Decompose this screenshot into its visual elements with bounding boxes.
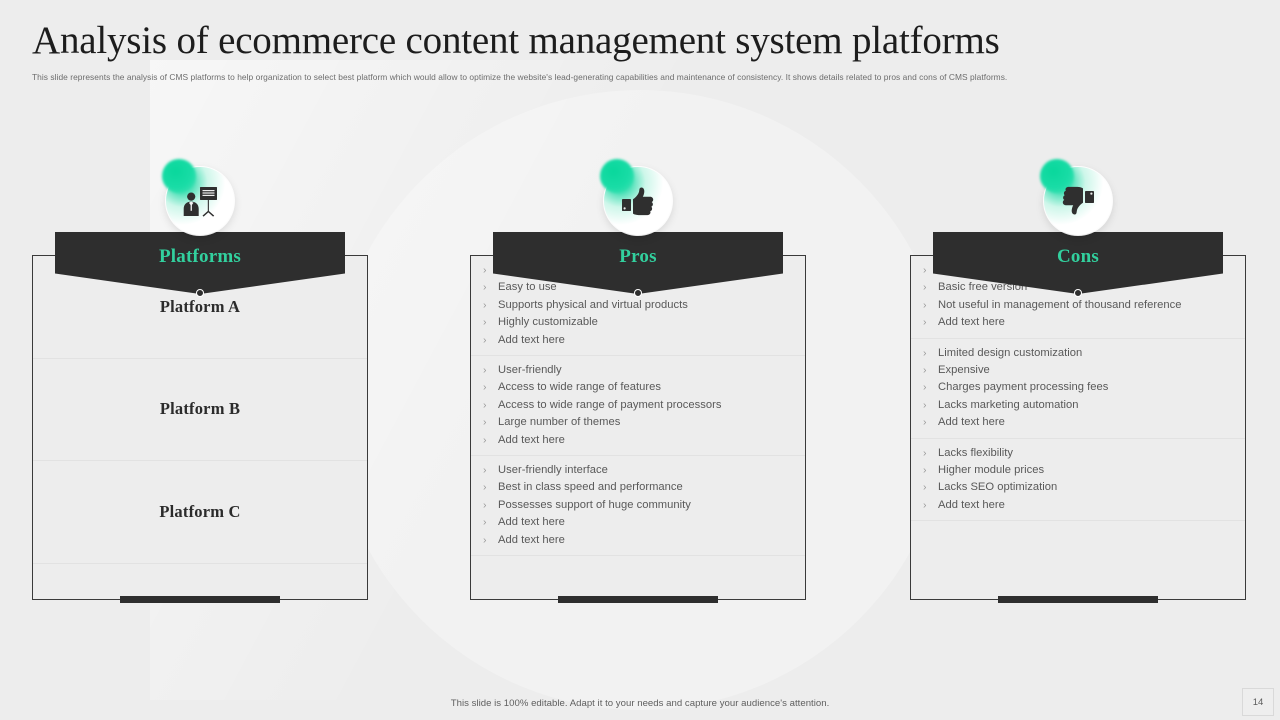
list-item-label: Best in class speed and performance (498, 479, 797, 496)
chevron-right-icon: › (483, 362, 498, 379)
chevron-right-icon: › (923, 314, 938, 331)
list-item-label: Add text here (498, 532, 797, 549)
chevron-right-icon: › (483, 297, 498, 314)
column-platforms: Platforms Platform A Platform B Platform… (32, 255, 368, 600)
chevron-right-icon: › (483, 497, 498, 514)
chevron-right-icon: › (483, 532, 498, 549)
platforms-banner-label: Platforms (159, 246, 241, 268)
column-cons: Cons › Higher dependency on WordPress › … (910, 255, 1246, 600)
page-subtitle: This slide represents the analysis of CM… (32, 70, 1246, 85)
chevron-right-icon: › (483, 414, 498, 431)
chevron-right-icon: › (483, 462, 498, 479)
chevron-right-icon: › (923, 297, 938, 314)
platform-row[interactable]: Platform C (33, 461, 367, 564)
list-item[interactable]: › Add text here (923, 414, 1237, 431)
list-item-label: User-friendly (498, 362, 797, 379)
list-item[interactable]: › Charges payment processing fees (923, 379, 1237, 396)
chevron-right-icon: › (923, 445, 938, 462)
list-item[interactable]: › Add text here (483, 432, 797, 449)
list-item[interactable]: › Add text here (483, 532, 797, 549)
pros-banner-dot (634, 289, 642, 297)
cons-card: Cons › Higher dependency on WordPress › … (910, 255, 1246, 600)
chevron-right-icon: › (923, 397, 938, 414)
thumbs-up-icon (604, 167, 672, 235)
chevron-right-icon: › (483, 332, 498, 349)
list-item-label: Supports physical and virtual products (498, 297, 797, 314)
pros-bullet-group: › User-friendly interface › Best in clas… (471, 456, 805, 556)
platform-name: Platform B (160, 399, 240, 419)
list-item-label: Charges payment processing fees (938, 379, 1237, 396)
chevron-right-icon: › (923, 462, 938, 479)
list-item[interactable]: › Possesses support of huge community (483, 497, 797, 514)
slide-canvas: Analysis of ecommerce content management… (0, 0, 1280, 720)
list-item[interactable]: › Large number of themes (483, 414, 797, 431)
list-item[interactable]: › User-friendly interface (483, 462, 797, 479)
cons-banner-dot (1074, 289, 1082, 297)
column-pros: Pros › Free plugin › Easy to use › Suppo… (470, 255, 806, 600)
list-item-label: Possesses support of huge community (498, 497, 797, 514)
cons-accent-bar (998, 596, 1158, 603)
list-item-label: Lacks marketing automation (938, 397, 1237, 414)
pros-accent-bar (558, 596, 718, 603)
chevron-right-icon: › (923, 379, 938, 396)
page-number-badge: 14 (1242, 688, 1274, 716)
list-item[interactable]: › Lacks flexibility (923, 445, 1237, 462)
chevron-right-icon: › (483, 514, 498, 531)
platform-row[interactable]: Platform B (33, 359, 367, 462)
list-item-label: Access to wide range of features (498, 379, 797, 396)
pros-banner-label: Pros (619, 246, 656, 268)
list-item[interactable]: › User-friendly (483, 362, 797, 379)
chevron-right-icon: › (483, 397, 498, 414)
chevron-right-icon: › (483, 432, 498, 449)
list-item[interactable]: › Lacks SEO optimization (923, 479, 1237, 496)
chevron-right-icon: › (923, 479, 938, 496)
list-item-label: Add text here (938, 497, 1237, 514)
list-item-label: Not useful in management of thousand ref… (938, 297, 1237, 314)
list-item[interactable]: › Add text here (483, 332, 797, 349)
list-item-label: Large number of themes (498, 414, 797, 431)
list-item-label: Limited design customization (938, 345, 1237, 362)
list-item[interactable]: › Supports physical and virtual products (483, 297, 797, 314)
slide-header: Analysis of ecommerce content management… (32, 18, 1248, 85)
list-item-label: Expensive (938, 362, 1237, 379)
list-item[interactable]: › Add text here (483, 514, 797, 531)
list-item-label: Highly customizable (498, 314, 797, 331)
platform-name: Platform C (159, 502, 240, 522)
list-item[interactable]: › Access to wide range of payment proces… (483, 397, 797, 414)
list-item[interactable]: › Best in class speed and performance (483, 479, 797, 496)
list-item-label: Add text here (498, 514, 797, 531)
list-item[interactable]: › Add text here (923, 497, 1237, 514)
thumbs-down-icon (1044, 167, 1112, 235)
chevron-right-icon: › (483, 379, 498, 396)
pros-bullet-group: › User-friendly › Access to wide range o… (471, 356, 805, 456)
chevron-right-icon: › (483, 314, 498, 331)
platform-name: Platform A (160, 297, 240, 317)
list-item[interactable]: › Highly customizable (483, 314, 797, 331)
chevron-right-icon: › (923, 497, 938, 514)
list-item-label: Add text here (498, 332, 797, 349)
platforms-card: Platforms Platform A Platform B Platform… (32, 255, 368, 600)
list-item-label: Add text here (938, 414, 1237, 431)
chevron-right-icon: › (483, 279, 498, 296)
chevron-right-icon: › (923, 279, 938, 296)
list-item-label: Higher module prices (938, 462, 1237, 479)
cons-banner-label: Cons (1057, 246, 1099, 268)
presentation-speaker-icon (166, 167, 234, 235)
list-item[interactable]: › Higher module prices (923, 462, 1237, 479)
chevron-right-icon: › (923, 414, 938, 431)
pros-card: Pros › Free plugin › Easy to use › Suppo… (470, 255, 806, 600)
chevron-right-icon: › (923, 345, 938, 362)
list-item-label: Add text here (938, 314, 1237, 331)
list-item-label: Lacks SEO optimization (938, 479, 1237, 496)
list-item[interactable]: › Limited design customization (923, 345, 1237, 362)
list-item[interactable]: › Add text here (923, 314, 1237, 331)
list-item-label: Lacks flexibility (938, 445, 1237, 462)
list-item[interactable]: › Lacks marketing automation (923, 397, 1237, 414)
list-item-label: Add text here (498, 432, 797, 449)
list-item[interactable]: › Access to wide range of features (483, 379, 797, 396)
list-item[interactable]: › Not useful in management of thousand r… (923, 297, 1237, 314)
platforms-accent-bar (120, 596, 280, 603)
platforms-banner-dot (196, 289, 204, 297)
list-item-label: Access to wide range of payment processo… (498, 397, 797, 414)
list-item-label: User-friendly interface (498, 462, 797, 479)
chevron-right-icon: › (483, 479, 498, 496)
page-title: Analysis of ecommerce content management… (32, 18, 1248, 64)
cons-bullet-group: › Lacks flexibility › Higher module pric… (911, 439, 1245, 522)
list-item[interactable]: › Expensive (923, 362, 1237, 379)
cons-bullet-group: › Limited design customization › Expensi… (911, 339, 1245, 439)
chevron-right-icon: › (923, 362, 938, 379)
footer-note: This slide is 100% editable. Adapt it to… (0, 698, 1280, 709)
